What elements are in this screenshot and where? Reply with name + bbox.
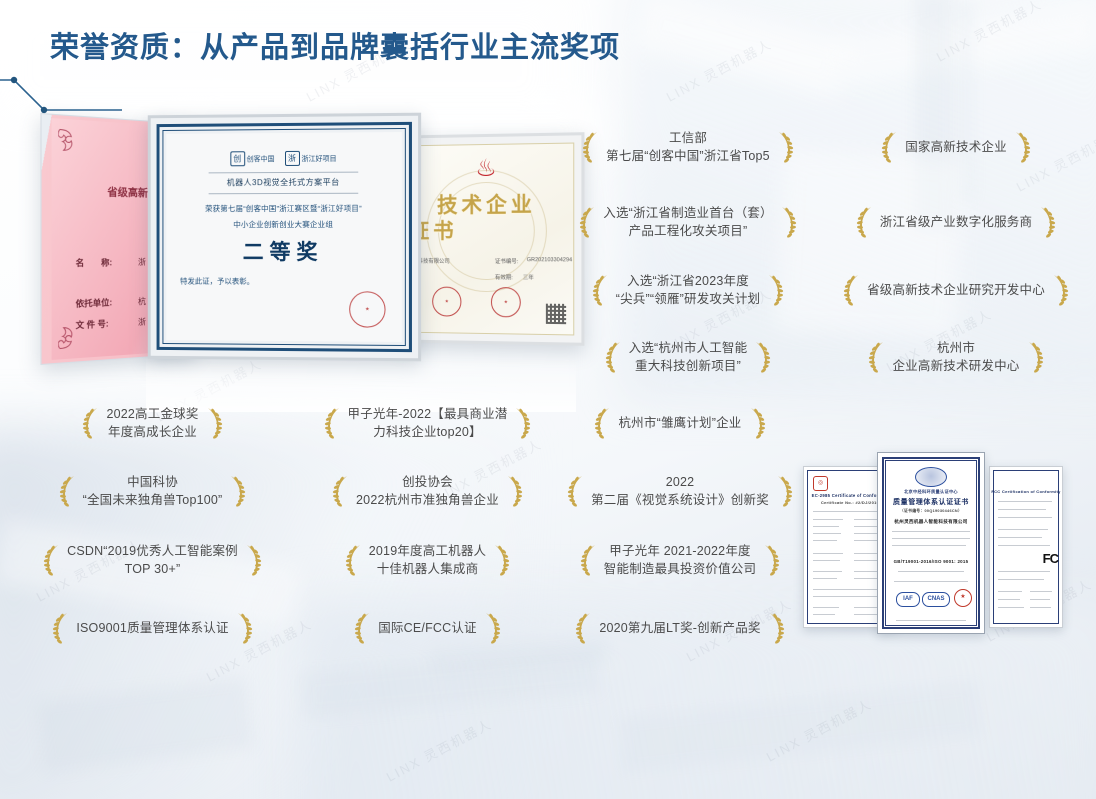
gold-certificate-face: ♨ 技术企业 证书 智能科技有限公司 证书编号: GR202103304294 … bbox=[400, 143, 574, 336]
laurel-left-icon bbox=[567, 474, 587, 508]
ornament-icon bbox=[58, 127, 86, 157]
laurel-left-icon bbox=[59, 474, 79, 508]
laurel-left-icon bbox=[43, 543, 63, 577]
certificate-fcc: FCC Certification of Conformity FC bbox=[989, 466, 1063, 628]
laurel-left-icon bbox=[52, 611, 72, 645]
award-label: CSDN“2019优秀人工智能案例TOP 30+” bbox=[67, 542, 238, 578]
laurel-right-icon bbox=[242, 543, 262, 577]
divider bbox=[209, 193, 359, 195]
laurel-right-icon bbox=[1011, 130, 1031, 164]
award-item: 甲子光年-2022【最具商业潜力科技企业top20】 bbox=[295, 398, 560, 448]
laurel-left-icon bbox=[580, 543, 600, 577]
laurel-left-icon bbox=[856, 205, 876, 239]
cnas-badge-icon: CNAS bbox=[922, 592, 950, 607]
pink-plaque-heading: 省级高新 bbox=[107, 183, 148, 200]
zhejiang-logo-icon: 浙浙江好项目 bbox=[284, 151, 336, 166]
pink-plaque-doc-label: 文 件 号: bbox=[76, 318, 109, 331]
iso-standard: GB/T19001-2016/ISO 9001: 2015 bbox=[878, 559, 984, 564]
award-label: 2022第二届《视觉系统设计》创新奖 bbox=[591, 473, 769, 509]
award-label: 省级高新技术企业研究开发中心 bbox=[867, 281, 1045, 299]
certificate-footer: 特发此证，予以表彰。 bbox=[180, 276, 254, 287]
award-label: 甲子光年 2021-2022年度智能制造最具投资价值公司 bbox=[604, 542, 756, 578]
award-item: 中国科协“全国未来独角兽Top100” bbox=[20, 466, 285, 516]
laurel-right-icon bbox=[503, 474, 523, 508]
award-item: 国际CE/FCC认证 bbox=[295, 603, 560, 653]
laurel-left-icon bbox=[82, 406, 102, 440]
award-item: 杭州市“雏鹰计划”企业 bbox=[560, 398, 800, 448]
slide-root: LINX 灵西机器人 LINX 灵西机器人 LINX 灵西机器人 LINX 灵西… bbox=[0, 0, 1096, 799]
award-label: 2019年度高工机器人十佳机器人集成商 bbox=[369, 542, 487, 578]
award-item: 2020第九届LT奖-创新产品奖 bbox=[560, 603, 800, 653]
award-label: 入选“浙江省2023年度“尖兵”“领雁”研发攻关计划 bbox=[616, 272, 760, 308]
red-seal-icon: ★ bbox=[491, 287, 521, 317]
page-title: 荣誉资质：从产品到品牌囊括行业主流奖项 bbox=[50, 34, 620, 63]
certificate-group-top: 省级高新 名 称: 浙 依托单位: 杭 文 件 号: 浙 ♨ 技术企业 证书 智… bbox=[36, 108, 556, 370]
red-seal-icon: ◎ bbox=[813, 476, 828, 491]
laurel-left-icon bbox=[843, 273, 863, 307]
award-label: 创投协会2022杭州市准独角兽企业 bbox=[356, 473, 499, 509]
chuangke-logo-icon: 创创客中国 bbox=[230, 151, 275, 166]
pink-plaque-unit-label: 依托单位: bbox=[76, 297, 113, 310]
award-label: ISO9001质量管理体系认证 bbox=[76, 619, 228, 637]
award-item: 杭州市企业高新技术研发中心 bbox=[825, 332, 1087, 382]
award-label: 国际CE/FCC认证 bbox=[378, 619, 477, 637]
award-label: 2020第九届LT奖-创新产品奖 bbox=[599, 619, 760, 637]
award-label: 杭州市企业高新技术研发中心 bbox=[892, 339, 1019, 375]
iso-title: 质量管理体系认证证书 bbox=[878, 497, 984, 507]
award-item: 浙江省级产业数字化服务商 bbox=[825, 197, 1087, 247]
award-item: CSDN“2019优秀人工智能案例TOP 30+” bbox=[20, 535, 285, 585]
certificate-prize: 二等奖 bbox=[243, 236, 324, 266]
gold-certificate-valid-label: 有效期: bbox=[495, 273, 513, 281]
certificate-line2: 中小企业创新创业大赛企业组 bbox=[233, 219, 333, 230]
laurel-left-icon bbox=[579, 205, 599, 239]
laurel-right-icon bbox=[481, 611, 501, 645]
award-item: 2019年度高工机器人十佳机器人集成商 bbox=[295, 535, 560, 585]
award-label: 浙江省级产业数字化服务商 bbox=[880, 213, 1032, 231]
award-label: 甲子光年-2022【最具商业潜力科技企业top20】 bbox=[348, 405, 508, 441]
award-label: 入选“杭州市人工智能重大科技创新项目” bbox=[629, 339, 748, 375]
laurel-right-icon bbox=[760, 543, 780, 577]
laurel-right-icon bbox=[777, 205, 797, 239]
laurel-right-icon bbox=[1049, 273, 1069, 307]
award-item: 省级高新技术企业研究开发中心 bbox=[825, 265, 1087, 315]
certificate-second-prize: 创创客中国 浙浙江好项目 机器人3D视觉全托式方案平台 荣获第七届“创客中国”浙… bbox=[148, 113, 421, 362]
laurel-left-icon bbox=[605, 340, 625, 374]
award-item: 入选“浙江省制造业首台（套）产品工程化攻关项目” bbox=[560, 197, 816, 247]
award-label: 2022高工金球奖年度高成长企业 bbox=[106, 405, 198, 441]
award-item: ISO9001质量管理体系认证 bbox=[20, 603, 285, 653]
laurel-right-icon bbox=[746, 406, 766, 440]
pink-plaque-doc-value: 浙 bbox=[138, 316, 146, 328]
award-label: 国家高新技术企业 bbox=[905, 138, 1007, 156]
pink-plaque-name-value: 浙 bbox=[138, 257, 146, 268]
certification-body-logo-icon bbox=[915, 467, 947, 487]
iso-company: 杭州灵西机器人智能科技有限公司 bbox=[878, 519, 984, 525]
gold-certificate-valid-value: 三年 bbox=[523, 273, 534, 281]
award-item: 入选“杭州市人工智能重大科技创新项目” bbox=[560, 332, 816, 382]
pink-plaque-unit-value: 杭 bbox=[138, 296, 146, 308]
certificate-logos: 创创客中国 浙浙江好项目 bbox=[230, 151, 337, 167]
certificate-project: 机器人3D视觉全托式方案平台 bbox=[227, 177, 340, 188]
award-label: 中国科协“全国未来独角兽Top100” bbox=[83, 473, 223, 509]
pink-plaque-name-label: 名 称: bbox=[76, 257, 113, 269]
laurel-left-icon bbox=[324, 406, 344, 440]
award-label: 工信部第七届“创客中国”浙江省Top5 bbox=[606, 129, 770, 165]
laurel-right-icon bbox=[773, 474, 793, 508]
laurel-right-icon bbox=[764, 273, 784, 307]
laurel-left-icon bbox=[868, 340, 888, 374]
laurel-right-icon bbox=[511, 406, 531, 440]
laurel-right-icon bbox=[233, 611, 253, 645]
logo-right-label: 浙江好项目 bbox=[301, 153, 336, 163]
award-label: 杭州市“雏鹰计划”企业 bbox=[618, 414, 741, 432]
gold-certificate-no-label: 证书编号: bbox=[495, 257, 518, 265]
laurel-left-icon bbox=[592, 273, 612, 307]
red-seal-icon: ★ bbox=[349, 291, 385, 327]
iso-org: 北京中经科环质量认证中心 bbox=[878, 489, 984, 495]
laurel-right-icon bbox=[774, 130, 794, 164]
certificate-group-bottom: ◎ EC-2985 Certificate of Conformity Cert… bbox=[803, 452, 1059, 632]
laurel-right-icon bbox=[203, 406, 223, 440]
certificate-line1: 荣获第七届“创客中国”浙江赛区暨“浙江好项目” bbox=[205, 203, 362, 214]
laurel-left-icon bbox=[881, 130, 901, 164]
laurel-left-icon bbox=[582, 130, 602, 164]
flame-logo-icon: ♨ bbox=[475, 157, 496, 181]
doc-right-header: FCC Certification of Conformity bbox=[990, 489, 1062, 494]
laurel-left-icon bbox=[345, 543, 365, 577]
laurel-left-icon bbox=[575, 611, 595, 645]
award-item: 2022高工金球奖年度高成长企业 bbox=[20, 398, 285, 448]
certificate-iso9001: 北京中经科环质量认证中心 质量管理体系认证证书 （证书编号：00Q1903044… bbox=[877, 452, 985, 634]
divider bbox=[209, 172, 359, 174]
laurel-right-icon bbox=[765, 611, 785, 645]
iso-cert-no: （证书编号：00Q19030446CN） bbox=[878, 509, 984, 514]
laurel-left-icon bbox=[594, 406, 614, 440]
logo-left-label: 创客中国 bbox=[247, 154, 275, 164]
laurel-right-icon bbox=[751, 340, 771, 374]
award-item: 入选“浙江省2023年度“尖兵”“领雁”研发攻关计划 bbox=[560, 265, 816, 315]
award-label: 入选“浙江省制造业首台（套）产品工程化攻关项目” bbox=[603, 204, 772, 240]
award-item: 国家高新技术企业 bbox=[825, 122, 1087, 172]
certificate-body: 创创客中国 浙浙江好项目 机器人3D视觉全托式方案平台 荣获第七届“创客中国”浙… bbox=[166, 132, 401, 342]
red-seal-icon: ★ bbox=[954, 589, 972, 607]
laurel-right-icon bbox=[490, 543, 510, 577]
laurel-right-icon bbox=[1024, 340, 1044, 374]
award-item: 工信部第七届“创客中国”浙江省Top5 bbox=[560, 122, 816, 172]
laurel-right-icon bbox=[1036, 205, 1056, 239]
award-item: 2022第二届《视觉系统设计》创新奖 bbox=[560, 466, 800, 516]
laurel-left-icon bbox=[332, 474, 352, 508]
laurel-right-icon bbox=[226, 474, 246, 508]
gold-certificate-no-value: GR202103304294 bbox=[527, 257, 572, 263]
iaf-badge-icon: IAF bbox=[896, 592, 920, 607]
award-item: 甲子光年 2021-2022年度智能制造最具投资价值公司 bbox=[560, 535, 800, 585]
fcc-mark-icon: FC bbox=[1043, 551, 1058, 566]
laurel-left-icon bbox=[354, 611, 374, 645]
red-seal-icon: ★ bbox=[432, 287, 461, 317]
award-item: 创投协会2022杭州市准独角兽企业 bbox=[295, 466, 560, 516]
